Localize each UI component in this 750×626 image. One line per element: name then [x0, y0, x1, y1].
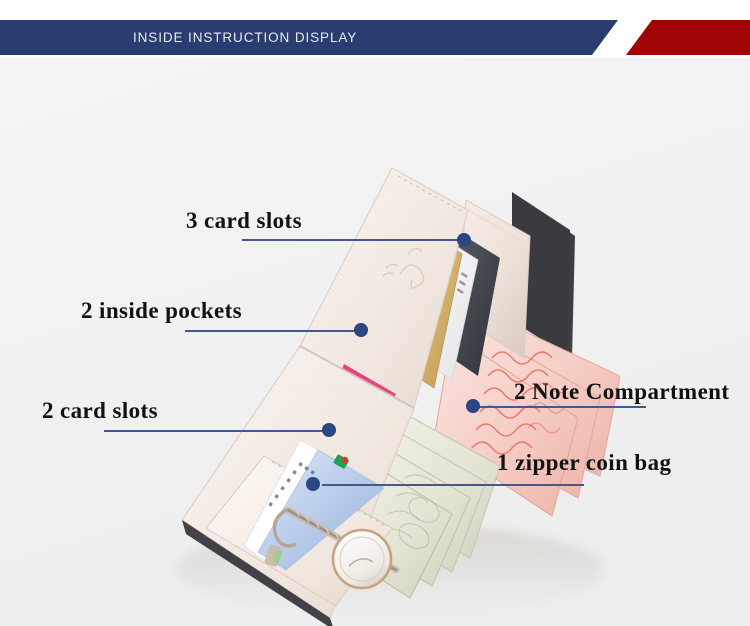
callout-label-1-zipper-coin-bag: 1 zipper coin bag [497, 450, 671, 476]
callout-dot-2-card-slots [322, 423, 336, 437]
callout-line-1-zipper-coin-bag [322, 484, 584, 486]
callout-label-2-inside-pockets: 2 inside pockets [81, 298, 242, 324]
callout-dot-2-inside-pockets [354, 323, 368, 337]
callout-line-2-card-slots [104, 430, 331, 432]
callout-dot-2-note-compartment [466, 399, 480, 413]
callout-line-2-inside-pockets [185, 330, 363, 332]
callout-dot-1-zipper-coin-bag [306, 477, 320, 491]
callout-line-2-note-compartment [478, 406, 646, 408]
product-instruction-page: INSIDE INSTRUCTION DISPLAY [0, 0, 750, 626]
product-photo [0, 58, 750, 626]
callout-label-2-card-slots: 2 card slots [42, 398, 158, 424]
callout-dot-3-card-slots [457, 233, 471, 247]
callout-line-3-card-slots [242, 239, 464, 241]
banner-red-shape [626, 20, 750, 55]
callout-label-2-note-compartment: 2 Note Compartment [514, 379, 729, 405]
callout-label-3-card-slots: 3 card slots [186, 208, 302, 234]
banner-title: INSIDE INSTRUCTION DISPLAY [133, 20, 357, 55]
